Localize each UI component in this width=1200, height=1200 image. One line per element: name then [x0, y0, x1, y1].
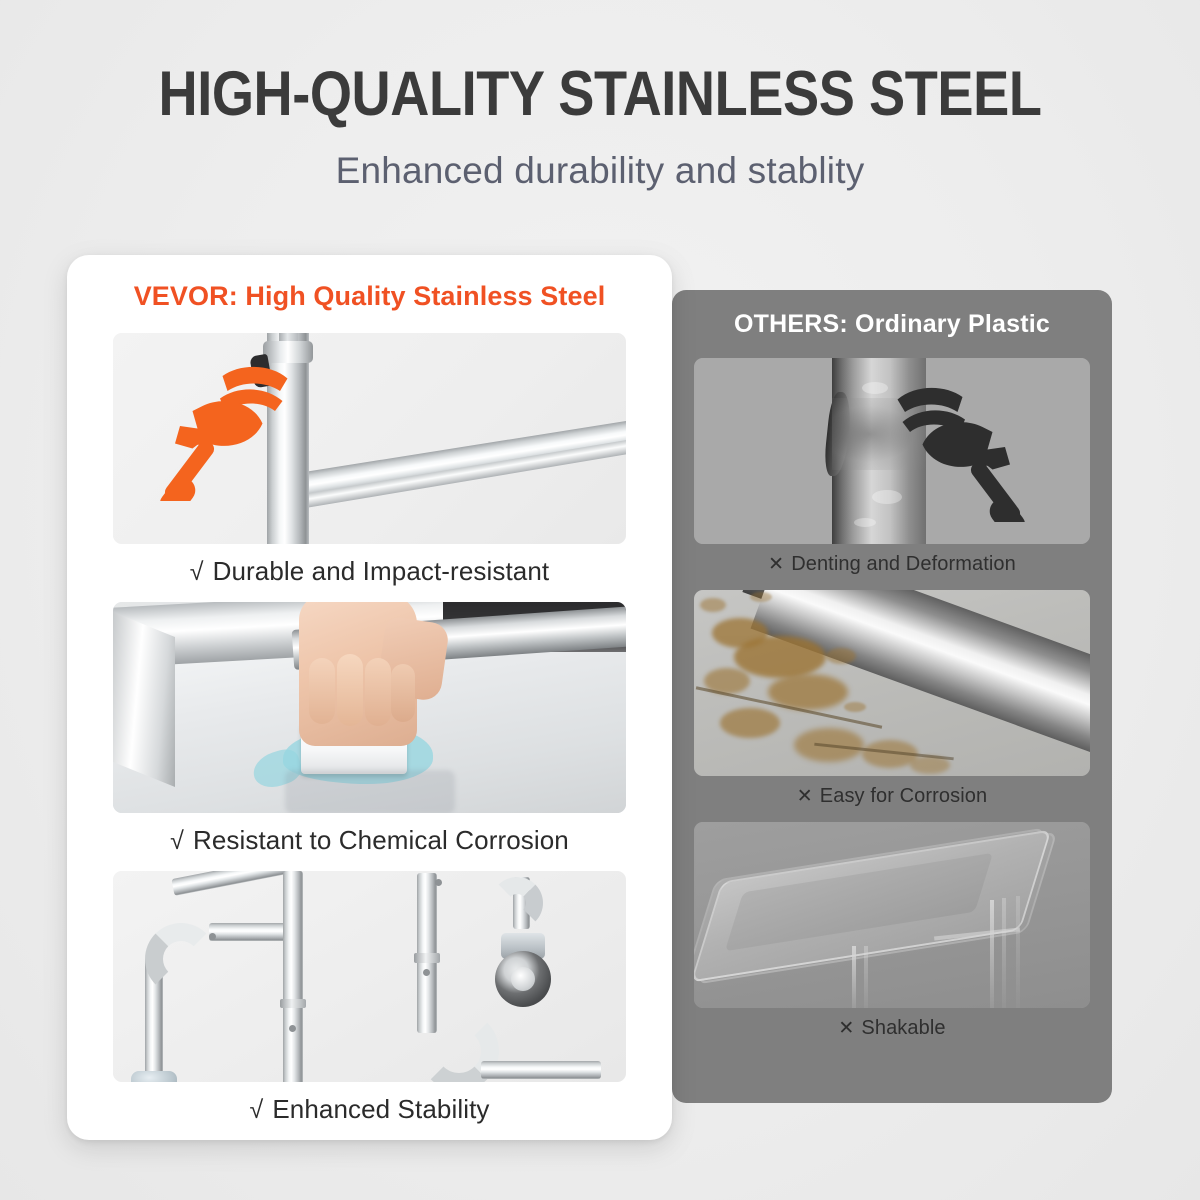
vevor-list-item: √Resistant to Chemical Corrosion — [113, 602, 626, 862]
others-panel-title: OTHERS: Ordinary Plastic — [672, 310, 1112, 339]
leg-foot-pad — [131, 1071, 177, 1082]
comparison-infographic: HIGH-QUALITY STAINLESS STEEL Enhanced du… — [0, 0, 1200, 1200]
vevor-caption-stability: √Enhanced Stability — [113, 1082, 626, 1131]
corroded-tray-illustration — [694, 590, 1090, 776]
others-list-item: ✕Shakable — [694, 822, 1090, 1044]
others-caption-shakable: ✕Shakable — [694, 1008, 1090, 1044]
hammer-on-steel-post-illustration — [113, 333, 626, 544]
page-subtitle: Enhanced durability and stablity — [0, 150, 1200, 192]
cross-mark-icon: ✕ — [768, 553, 784, 576]
vevor-thumb-stability — [113, 871, 626, 1082]
check-mark-icon: √ — [250, 1096, 264, 1125]
vevor-thumb-corrosion-resistance — [113, 602, 626, 813]
others-thumb-shakable — [694, 822, 1090, 1008]
shaking-tray-illustration — [694, 822, 1090, 1008]
others-thumb-corrosion — [694, 590, 1090, 776]
cross-mark-icon: ✕ — [838, 1017, 854, 1040]
hammer-icon-orange — [145, 351, 295, 501]
others-panel: OTHERS: Ordinary Plastic — [672, 290, 1112, 1103]
hammer-icon-dark — [890, 372, 1040, 522]
hand-wiping-tray-illustration — [113, 602, 626, 813]
vevor-panel: VEVOR: High Quality Stainless Steel — [67, 255, 672, 1140]
others-caption-corrosion: ✕Easy for Corrosion — [694, 776, 1090, 812]
vevor-caption-durability: √Durable and Impact-resistant — [113, 544, 626, 593]
others-list-item: ✕Easy for Corrosion — [694, 590, 1090, 812]
check-mark-icon: √ — [170, 827, 184, 856]
others-caption-denting: ✕Denting and Deformation — [694, 544, 1090, 580]
others-list-item: ✕Denting and Deformation — [694, 358, 1090, 580]
others-thumb-denting — [694, 358, 1090, 544]
check-mark-icon: √ — [190, 558, 204, 587]
vevor-panel-title: VEVOR: High Quality Stainless Steel — [67, 281, 672, 312]
vevor-thumb-durability — [113, 333, 626, 544]
dented-pipe-illustration — [694, 358, 1090, 544]
vevor-list-item: √Enhanced Stability — [113, 871, 626, 1131]
vevor-item-list: √Durable and Impact-resistant — [67, 333, 672, 1140]
cross-mark-icon: ✕ — [797, 785, 813, 808]
cart-legs-caster-illustration — [113, 871, 626, 1082]
vevor-list-item: √Durable and Impact-resistant — [113, 333, 626, 593]
header: HIGH-QUALITY STAINLESS STEEL Enhanced du… — [0, 0, 1200, 192]
others-item-list: ✕Denting and Deformation — [672, 358, 1112, 1054]
page-title: HIGH-QUALITY STAINLESS STEEL — [84, 58, 1116, 130]
vevor-caption-corrosion-resistance: √Resistant to Chemical Corrosion — [113, 813, 626, 862]
